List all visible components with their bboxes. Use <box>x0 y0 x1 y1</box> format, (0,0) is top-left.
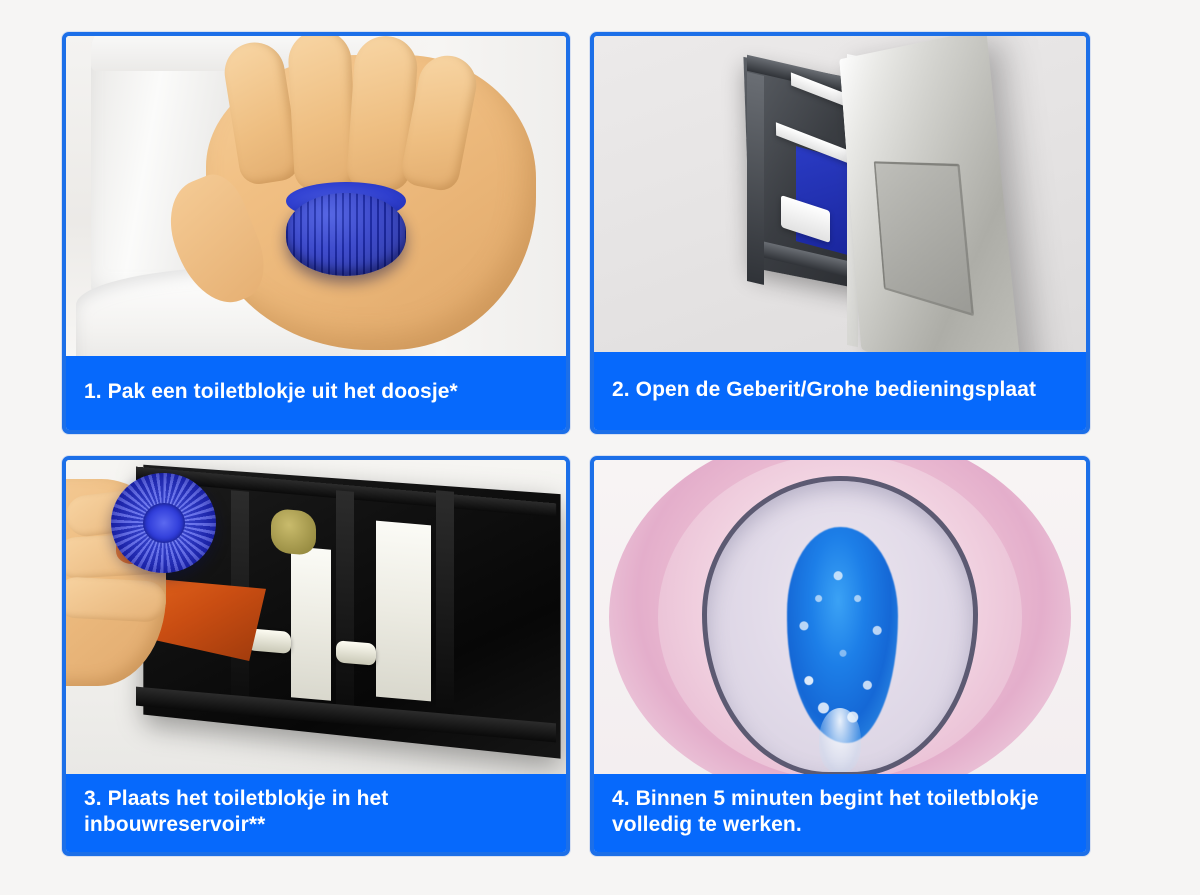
step-3-photo <box>66 460 566 774</box>
blue-toilet-block <box>111 473 216 573</box>
cistern-rib <box>336 491 354 719</box>
step-2-caption: 2. Open de Geberit/Grohe bedieningsplaat <box>594 352 1086 430</box>
frame-bar <box>747 72 764 285</box>
cistern-rib <box>436 491 454 719</box>
white-peg <box>336 640 376 665</box>
flush-button-cutout <box>873 161 973 316</box>
step-3-caption: 3. Plaats het toiletblokje in het inbouw… <box>66 774 566 852</box>
water-splash <box>819 708 861 772</box>
flush-plate-cover <box>839 36 1027 352</box>
steps-grid: 1. Pak een toiletblokje uit het doosje* … <box>62 32 1090 856</box>
instruction-infographic: 1. Pak een toiletblokje uit het doosje* … <box>0 0 1200 895</box>
toilet-bowl-rim <box>702 476 978 774</box>
step-2-photo <box>594 36 1086 352</box>
step-card-1[interactable]: 1. Pak een toiletblokje uit het doosje* <box>62 32 570 434</box>
step-1-caption: 1. Pak een toiletblokje uit het doosje* <box>66 356 566 430</box>
step-1-photo <box>66 36 566 356</box>
step-card-3[interactable]: 3. Plaats het toiletblokje in het inbouw… <box>62 456 570 856</box>
blue-toilet-block <box>286 193 406 276</box>
brass-fitting <box>271 508 316 556</box>
finger-shape <box>66 576 167 623</box>
white-internal-panel <box>376 520 431 701</box>
step-4-photo <box>594 460 1086 774</box>
step-card-2[interactable]: 2. Open de Geberit/Grohe bedieningsplaat <box>590 32 1090 434</box>
white-internal-panel <box>291 546 331 700</box>
step-card-4[interactable]: 4. Binnen 5 minuten begint het toiletblo… <box>590 456 1090 856</box>
step-4-caption: 4. Binnen 5 minuten begint het toiletblo… <box>594 774 1086 852</box>
